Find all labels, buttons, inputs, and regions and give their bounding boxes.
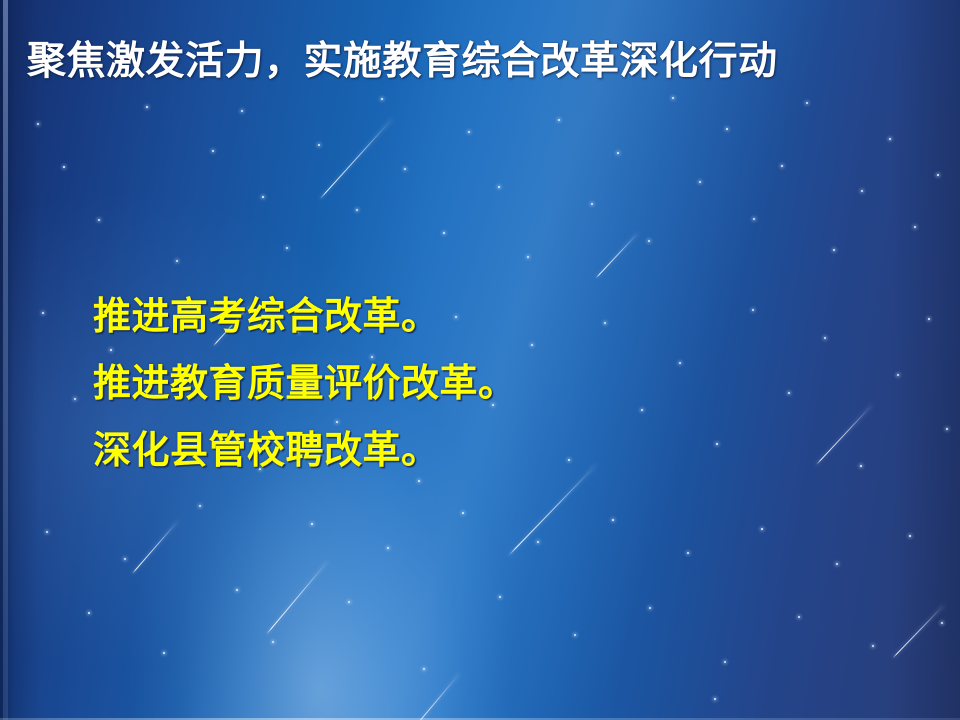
star-dot (286, 247, 288, 249)
star-dot (724, 661, 726, 663)
star-dot (914, 226, 916, 228)
star-dot (236, 589, 238, 591)
star-dot (836, 563, 838, 565)
star-dot (574, 634, 576, 636)
star-dot (356, 209, 358, 211)
shooting-star-streak (892, 604, 944, 658)
star-dot (752, 309, 754, 311)
star-dot (568, 459, 570, 461)
star-dot (499, 596, 501, 598)
star-dot (798, 616, 800, 618)
shooting-star-streak (266, 560, 329, 634)
star-dot (212, 150, 214, 152)
star-dot (558, 119, 560, 121)
star-dot (941, 622, 943, 624)
star-dot (909, 535, 911, 537)
star-dot (531, 344, 533, 346)
shooting-star-streak (508, 464, 597, 556)
star-dot (604, 322, 606, 324)
star-dot (860, 465, 862, 467)
star-dot (617, 152, 619, 154)
star-dot (699, 181, 701, 183)
star-dot (176, 260, 178, 262)
star-dot (672, 97, 674, 99)
star-dot (833, 249, 835, 251)
star-dot (649, 607, 651, 609)
star-dot (761, 528, 763, 530)
star-dot (63, 166, 65, 168)
star-dot (462, 512, 464, 514)
star-dot (806, 102, 808, 104)
star-dot (498, 186, 500, 188)
star-dot (37, 123, 39, 125)
star-dot (88, 612, 90, 614)
shooting-star-streak (816, 404, 873, 465)
shooting-star-streak (595, 232, 638, 278)
star-dot (641, 409, 643, 411)
star-dot (98, 219, 100, 221)
star-dot (468, 131, 470, 133)
star-dot (46, 531, 48, 533)
star-dot (946, 428, 948, 430)
star-dot (146, 106, 148, 108)
star-dot (537, 541, 539, 543)
body-line: 推进高考综合改革。 (93, 284, 517, 351)
left-border-stripe (3, 0, 8, 720)
star-dot (716, 443, 718, 445)
body-line: 深化县管校聘改革。 (93, 418, 517, 485)
star-dot (648, 240, 650, 242)
star-dot (262, 196, 264, 198)
star-dot (788, 392, 790, 394)
star-dot (124, 558, 126, 560)
body-line: 推进教育质量评价改革。 (93, 351, 517, 418)
star-dot (348, 601, 350, 603)
star-dot (387, 547, 389, 549)
star-dot (726, 128, 728, 130)
star-dot (272, 641, 274, 643)
star-dot (199, 505, 201, 507)
star-dot (687, 552, 689, 554)
star-dot (423, 668, 425, 670)
star-dot (241, 110, 243, 112)
star-dot (591, 203, 593, 205)
star-dot (872, 645, 874, 647)
star-dot (753, 218, 755, 220)
star-dot (42, 312, 44, 314)
star-dot (937, 174, 939, 176)
slide-title: 聚焦激发活力，实施教育综合改革深化行动 (27, 30, 778, 86)
star-dot (889, 138, 891, 140)
star-dot (404, 168, 406, 170)
star-dot (861, 190, 863, 192)
presentation-slide: 聚焦激发活力，实施教育综合改革深化行动 推进高考综合改革。 推进教育质量评价改革… (0, 0, 960, 720)
star-dot (381, 98, 383, 100)
star-dot (527, 256, 529, 258)
star-dot (74, 398, 76, 400)
star-dot (897, 374, 899, 376)
star-dot (318, 144, 320, 146)
shooting-star-streak (319, 118, 392, 199)
shooting-star-streak (132, 520, 179, 574)
shooting-star-streak (403, 672, 461, 720)
star-dot (824, 337, 826, 339)
star-dot (928, 318, 930, 320)
star-dot (443, 232, 445, 234)
star-dot (679, 362, 681, 364)
star-dot (163, 652, 165, 654)
star-dot (714, 698, 716, 700)
star-dot (612, 519, 614, 521)
star-dot (311, 523, 313, 525)
slide-body-text: 推进高考综合改革。 推进教育质量评价改革。 深化县管校聘改革。 (93, 284, 517, 485)
star-dot (781, 165, 783, 167)
